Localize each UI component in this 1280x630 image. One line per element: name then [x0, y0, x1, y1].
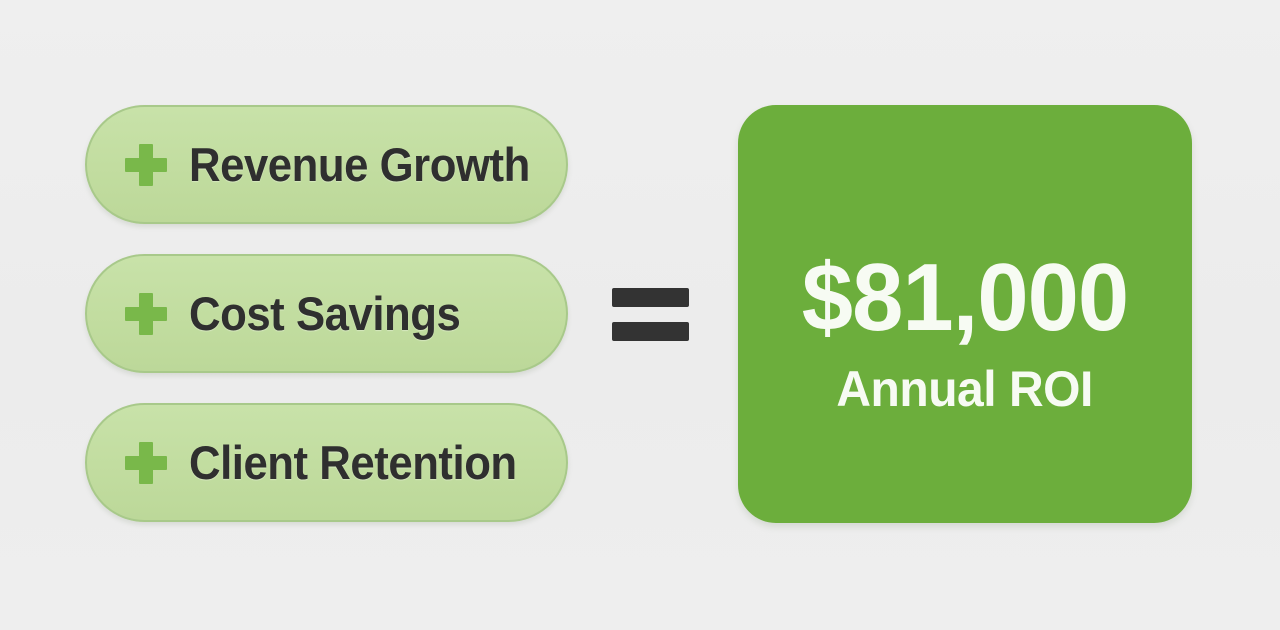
result-caption: Annual ROI	[837, 364, 1094, 414]
plus-icon	[125, 442, 167, 484]
benefit-pill-revenue-growth[interactable]: Revenue Growth	[85, 105, 568, 224]
benefit-label: Revenue Growth	[189, 137, 530, 192]
equals-bar-top	[612, 288, 689, 307]
result-amount: $81,000	[802, 250, 1128, 346]
equals-icon	[612, 288, 689, 341]
benefits-list: Revenue Growth Cost Savings Client Reten…	[85, 105, 575, 530]
benefit-pill-client-retention[interactable]: Client Retention	[85, 403, 568, 522]
benefit-label: Client Retention	[189, 435, 517, 490]
benefit-pill-cost-savings[interactable]: Cost Savings	[85, 254, 568, 373]
plus-icon	[125, 144, 167, 186]
benefit-label: Cost Savings	[189, 286, 460, 341]
result-card: $81,000 Annual ROI	[738, 105, 1192, 523]
roi-infographic: Revenue Growth Cost Savings Client Reten…	[0, 0, 1280, 630]
plus-icon	[125, 293, 167, 335]
equals-bar-bottom	[612, 322, 689, 341]
